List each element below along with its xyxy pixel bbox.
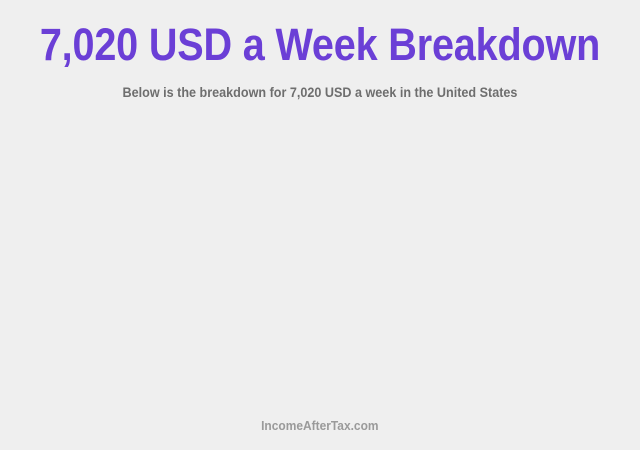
page-header: 7,020 USD a Week Breakdown Below is the … <box>0 0 640 101</box>
page-footer: IncomeAfterTax.com <box>0 408 640 450</box>
breakdown-content-area <box>0 118 640 408</box>
page-title: 7,020 USD a Week Breakdown <box>38 22 601 68</box>
page-subtitle: Below is the breakdown for 7,020 USD a w… <box>32 68 608 101</box>
site-watermark[interactable]: IncomeAfterTax.com <box>261 408 378 434</box>
page-root: 7,020 USD a Week Breakdown Below is the … <box>0 0 640 450</box>
